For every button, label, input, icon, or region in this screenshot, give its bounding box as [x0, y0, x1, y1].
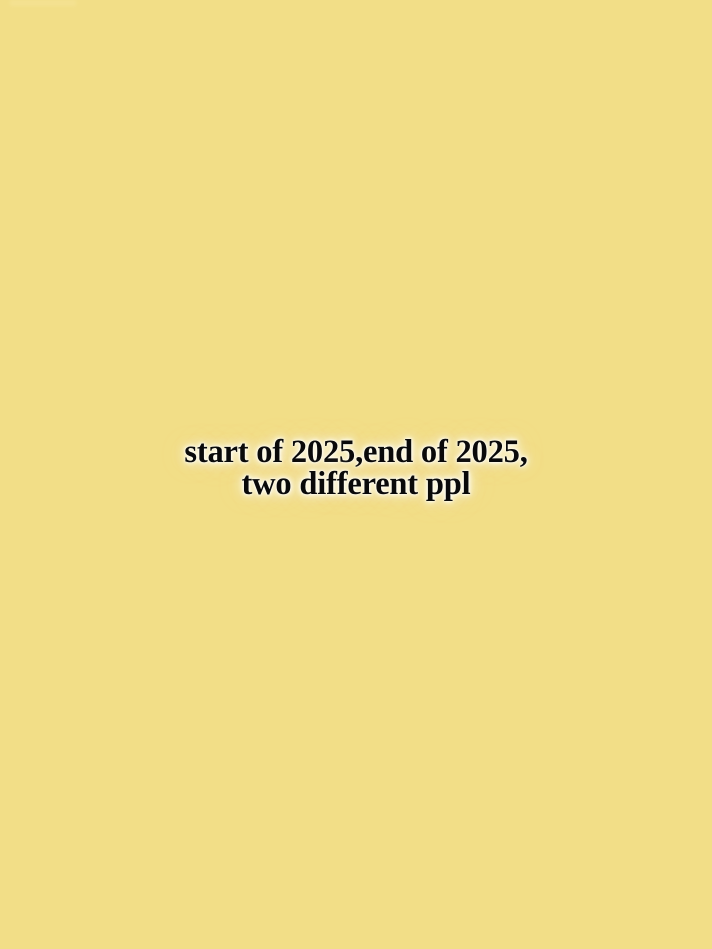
caption-overlay: start of 2025,end of 2025, two different…: [0, 436, 712, 500]
top-left-artifact: [10, 0, 76, 6]
caption-line-2: two different ppl: [0, 468, 712, 500]
caption-line-1: start of 2025,end of 2025,: [0, 436, 712, 468]
image-canvas: start of 2025,end of 2025, two different…: [0, 0, 712, 949]
